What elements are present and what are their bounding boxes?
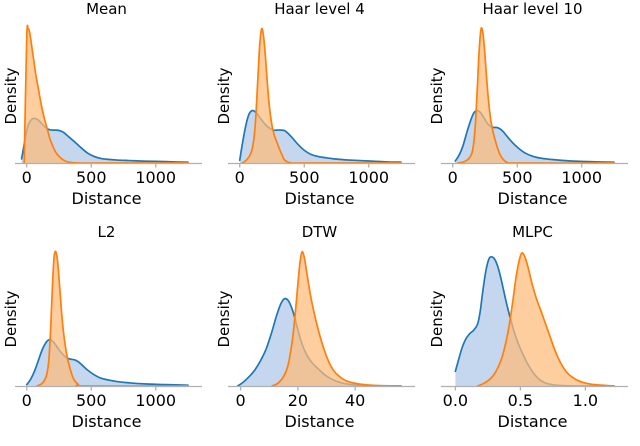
x-tick-label: 500 [502,169,533,187]
x-tick-label: 1000 [561,169,602,187]
x-tick-label: 1.0 [573,392,598,410]
subplot-panel: MeanDensity05001000Distance [0,0,213,223]
x-tick-label: 500 [76,392,107,410]
subplot-panel: L2Density05001000Distance [0,223,213,446]
x-tick-label: 0.5 [508,392,533,410]
x-axis-label: Distance [426,413,639,431]
kde-area-orange [458,28,614,163]
subplot-panel: DTWDensity02040Distance [213,223,426,446]
x-tick-label: 1000 [348,169,389,187]
subplot-panel: Haar level 10Density05001000Distance [426,0,639,223]
x-tick-label: 0.0 [443,392,468,410]
density-plot-figure: MeanDensity05001000DistanceHaar level 4D… [0,0,640,446]
x-tick-label: 20 [288,392,308,410]
subplot-panel: MLPCDensity0.00.51.0Distance [426,223,639,446]
x-tick-label: 0 [235,169,245,187]
x-axis-label: Distance [0,413,213,431]
x-axis-label: Distance [0,190,213,208]
x-tick-label: 40 [345,392,365,410]
x-axis-label: Distance [213,190,426,208]
x-tick-label: 1000 [135,169,176,187]
x-tick-label: 0 [448,169,458,187]
kde-area-orange [242,28,401,163]
x-tick-label: 1000 [135,392,176,410]
kde-area-orange [37,251,188,386]
subplot-panel: Haar level 4Density05001000Distance [213,0,426,223]
x-axis-label: Distance [426,190,639,208]
x-tick-label: 0 [22,169,32,187]
x-tick-label: 0 [22,392,32,410]
x-axis-label: Distance [213,413,426,431]
x-tick-label: 0 [235,392,245,410]
kde-area-orange [24,25,188,163]
x-tick-label: 500 [76,169,107,187]
x-tick-label: 500 [289,169,320,187]
